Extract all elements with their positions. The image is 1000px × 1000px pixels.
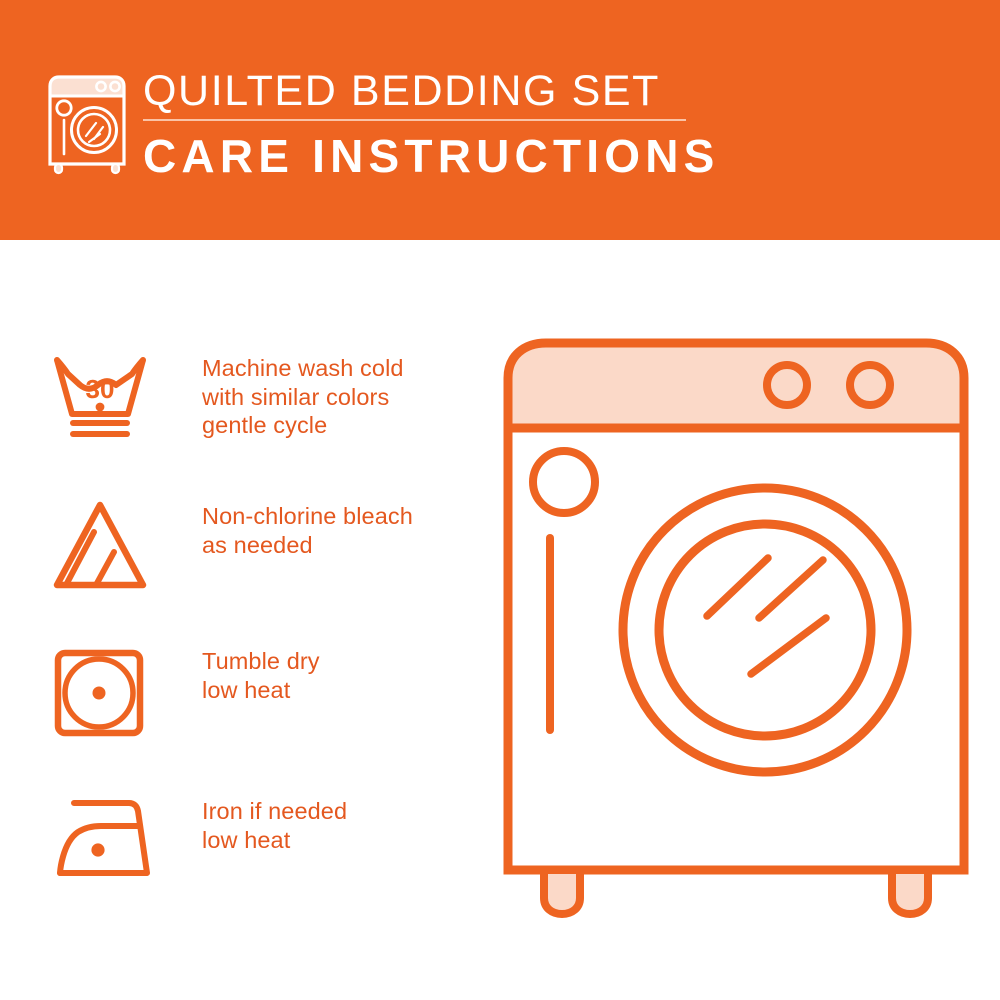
care-instructions-page: QUILTED BEDDING SET CARE INSTRUCTIONS 30… (0, 0, 1000, 1000)
leg-right (892, 870, 928, 914)
front-load-washing-machine-illustration (496, 330, 976, 930)
care-text-tumble-dry: Tumble dry low heat (160, 645, 320, 704)
tumble-dry-low-heat-icon (52, 645, 160, 740)
header-title-block: QUILTED BEDDING SET CARE INSTRUCTIONS (143, 66, 763, 182)
care-text-line: low heat (202, 676, 320, 705)
header-banner: QUILTED BEDDING SET CARE INSTRUCTIONS (0, 0, 1000, 240)
care-text-bleach: Non-chlorine bleach as needed (160, 500, 413, 559)
care-text-line: low heat (202, 826, 347, 855)
care-text-machine-wash: Machine wash cold with similar colors ge… (160, 352, 404, 440)
care-text-line: gentle cycle (202, 411, 404, 440)
washing-machine-logo-icon (44, 72, 130, 176)
care-row-tumble-dry: Tumble dry low heat (52, 645, 482, 740)
page-subtitle: CARE INSTRUCTIONS (143, 130, 763, 182)
care-text-iron: Iron if needed low heat (160, 795, 347, 854)
non-chlorine-bleach-triangle-icon (52, 500, 160, 595)
detergent-dial (533, 451, 595, 513)
care-text-line: Machine wash cold (202, 354, 404, 383)
care-row-iron: Iron if needed low heat (52, 795, 482, 890)
care-text-line: Non-chlorine bleach (202, 502, 413, 531)
leg-left (544, 870, 580, 914)
wash-temperature-value: 30 (86, 374, 115, 404)
care-text-line: Tumble dry (202, 647, 320, 676)
wash-tub-30-gentle-icon: 30 (52, 352, 160, 447)
control-panel (508, 343, 964, 428)
door-outer-ring (623, 488, 907, 772)
iron-low-heat-icon (52, 795, 160, 890)
care-row-machine-wash: 30 Machine wash cold with similar colors… (52, 352, 482, 447)
page-title: QUILTED BEDDING SET (143, 66, 763, 116)
care-text-line: with similar colors (202, 383, 404, 412)
care-text-line: as needed (202, 531, 413, 560)
door-glare-lines (707, 558, 826, 674)
title-divider (143, 119, 686, 121)
care-row-bleach: Non-chlorine bleach as needed (52, 500, 482, 595)
care-text-line: Iron if needed (202, 797, 347, 826)
